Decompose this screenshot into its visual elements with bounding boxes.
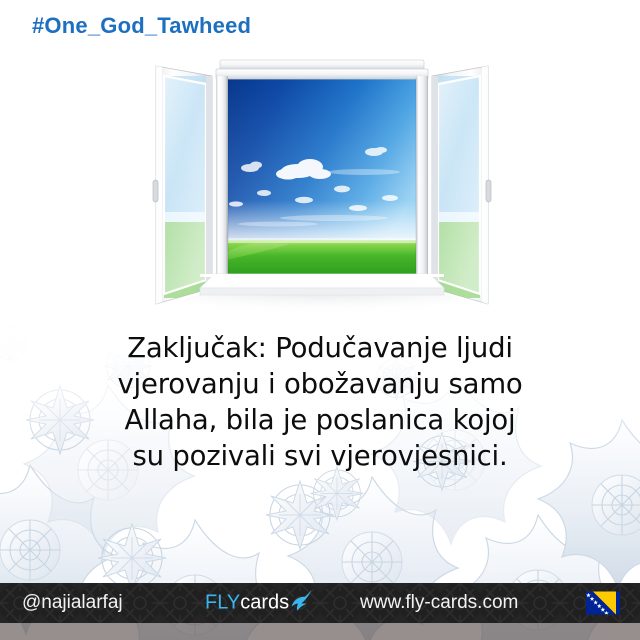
window-right-casement [432,66,491,304]
outdoor-scene [226,78,418,274]
window-left-casement [153,66,212,304]
brand-cards-text: cards [240,592,289,615]
website-url[interactable]: www.fly-cards.com [360,592,518,614]
footer-shadow-strip [0,622,640,640]
social-quote-card: #One_God_Tawheed [0,0,640,640]
quote-line-3: Allaha, bila je poslanica kojoj [40,402,600,438]
quote-line-1: Zaključak: Podučavanje ljudi [40,330,600,366]
bosnia-herzegovina-flag [586,592,620,615]
open-window-illustration [138,52,506,320]
social-handle[interactable]: @najialarfaj [22,592,123,614]
bird-icon [290,589,314,611]
hashtag-label: #One_God_Tawheed [32,13,251,39]
quote-line-2: vjerovanju i obožavanju samo [40,366,600,402]
brand-fly-text: FLY [205,592,240,615]
quote-line-4: su pozivali svi vjerovjesnici. [40,438,600,474]
quote-text: Zaključak: Podučavanje ljudi vjerovanju … [40,330,600,474]
flycards-logo[interactable]: FLYcards [205,592,314,615]
footer-bar: @najialarfaj FLYcards www.fly-cards.com [0,583,640,623]
window-sill [200,274,444,295]
